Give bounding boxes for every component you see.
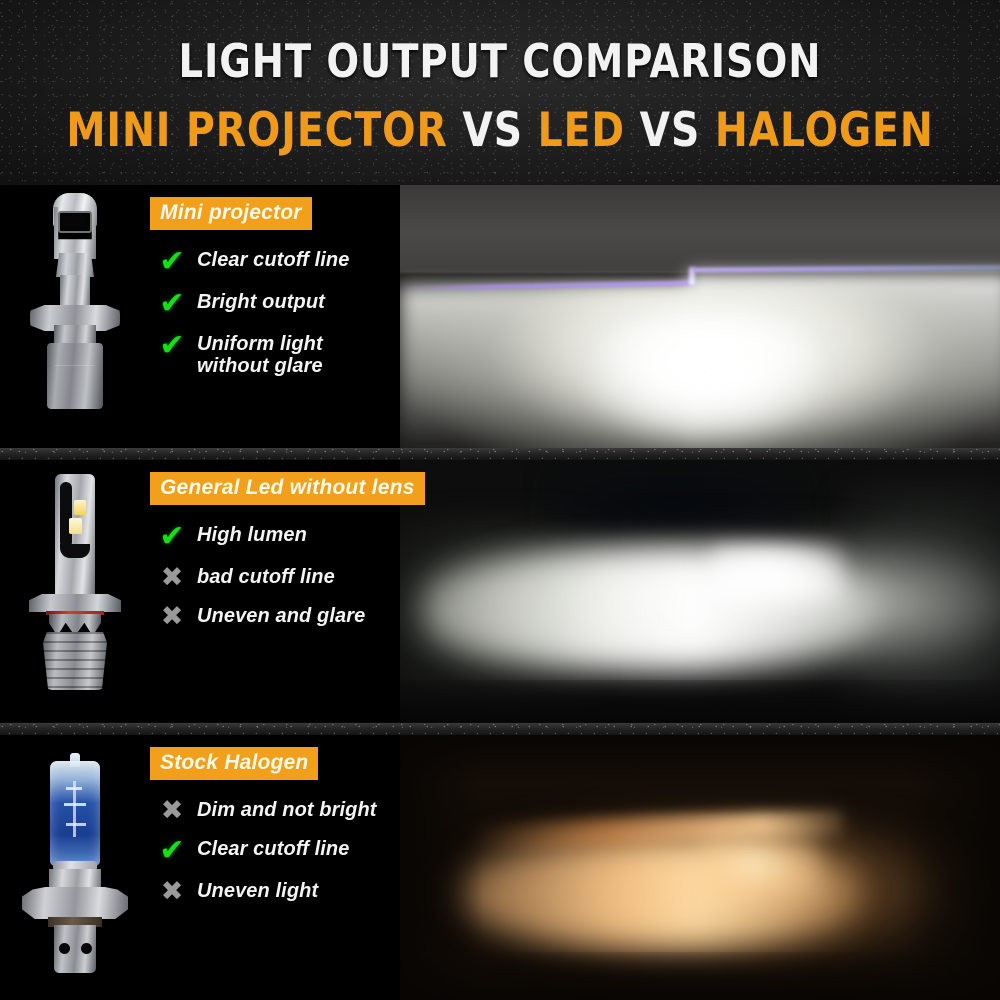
general-led-bulb-icon	[27, 474, 123, 714]
cross-icon: ✖	[156, 797, 188, 824]
beam-floor-shadow	[400, 680, 1000, 722]
beam-hotspot	[700, 830, 820, 899]
halogen-filament-3	[66, 823, 86, 826]
beam-edge-right	[904, 735, 1000, 1000]
halogen-filament-1	[66, 787, 82, 790]
check-icon: ✔	[156, 247, 188, 277]
section-divider-2	[0, 723, 1000, 735]
check-icon: ✔	[156, 522, 188, 552]
halogen-flange	[22, 887, 128, 919]
page-title: LIGHT OUTPUT COMPARISON	[35, 34, 965, 88]
features-stock-halogen: Stock Halogen ✖ Dim and not bright ✔ Cle…	[150, 735, 400, 1000]
subtitle-mini-projector: MINI PROJECTOR	[66, 103, 447, 158]
projector-neck	[60, 275, 90, 309]
poster-header: LIGHT OUTPUT COMPARISON MINI PROJECTOR V…	[0, 0, 1000, 185]
beam-photo-mini-projector	[400, 185, 1000, 448]
feature-label: Uniform light without glare	[197, 331, 323, 377]
features-mini-projector: Mini projector ✔ Clear cutoff line ✔ Bri…	[150, 185, 400, 448]
mini-projector-bulb-icon	[27, 193, 123, 443]
feature-label: High lumen	[197, 522, 307, 547]
cross-icon: ✖	[156, 878, 188, 905]
subtitle-led: LED	[538, 103, 625, 158]
texture-overlay	[0, 723, 1000, 735]
bulb-image-general-led	[0, 460, 150, 722]
check-icon: ✔	[156, 289, 188, 319]
led-flange-wings	[29, 594, 121, 612]
cross-icon: ✖	[156, 564, 188, 591]
subtitle-separator-1: VS	[462, 103, 523, 158]
beam-hotspot	[580, 322, 832, 448]
check-icon: ✔	[156, 331, 188, 361]
subtitle-halogen: HALOGEN	[715, 103, 934, 158]
feature-label: Clear cutoff line	[197, 247, 349, 272]
feature-label: Dim and not bright	[197, 797, 377, 822]
feature-label: Uneven and glare	[197, 603, 365, 628]
led-chip-lower	[69, 518, 82, 534]
led-heatsink	[43, 632, 107, 690]
projector-shoulder	[56, 253, 94, 277]
beam-hotspot	[712, 541, 844, 604]
cutoff-line-right	[694, 265, 1000, 272]
led-chip-upper	[74, 500, 86, 515]
stock-halogen-bulb-icon	[20, 751, 130, 991]
section-divider-1	[0, 448, 1000, 460]
projector-base	[47, 343, 103, 409]
beam-photo-stock-halogen	[400, 735, 1000, 1000]
section-stock-halogen: Stock Halogen ✖ Dim and not bright ✔ Cle…	[0, 735, 1000, 1000]
feature-label: Clear cutoff line	[197, 836, 349, 861]
feature-label: bad cutoff line	[197, 564, 335, 589]
beam-edge-left	[400, 735, 484, 1000]
beam-dark-top	[544, 460, 808, 528]
feature-label: Uneven light	[197, 878, 318, 903]
badge-general-led: General Led without lens	[150, 472, 425, 505]
halogen-terminal-hole-left	[59, 943, 70, 954]
light-output-comparison-poster: LIGHT OUTPUT COMPARISON MINI PROJECTOR V…	[0, 0, 1000, 1000]
halogen-terminal-hole-right	[81, 943, 92, 954]
section-mini-projector: Mini projector ✔ Clear cutoff line ✔ Bri…	[0, 185, 1000, 448]
halogen-filament-2	[64, 803, 86, 806]
badge-mini-projector: Mini projector	[150, 197, 312, 230]
check-icon: ✔	[156, 836, 188, 866]
subtitle-separator-2: VS	[640, 103, 701, 158]
bulb-image-stock-halogen	[0, 735, 150, 1000]
led-slot	[60, 482, 72, 548]
projector-lens-window	[58, 211, 92, 233]
features-general-led: General Led without lens ✔ High lumen ✖ …	[150, 460, 400, 722]
feature-label: Bright output	[197, 289, 325, 314]
page-subtitle: MINI PROJECTOR VS LED VS HALOGEN	[35, 103, 965, 158]
cross-icon: ✖	[156, 603, 188, 630]
beam-photo-general-led	[400, 460, 1000, 722]
led-slot-bottom	[60, 544, 90, 558]
badge-stock-halogen: Stock Halogen	[150, 747, 318, 780]
section-general-led: General Led without lens ✔ High lumen ✖ …	[0, 460, 1000, 722]
texture-overlay	[0, 448, 1000, 460]
bulb-image-mini-projector	[0, 185, 150, 448]
